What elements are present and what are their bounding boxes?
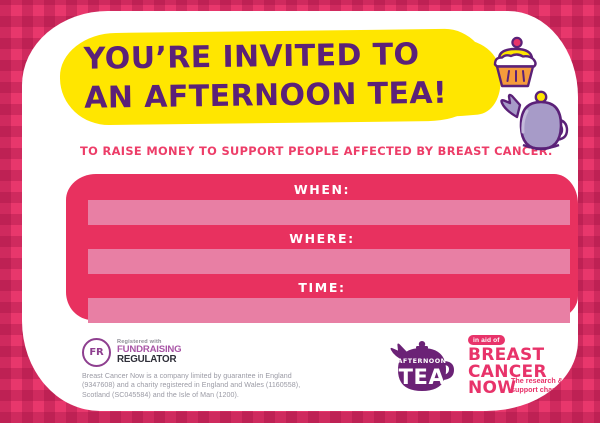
- cupcake-icon: [486, 35, 542, 91]
- legal-text: Breast Cancer Now is a company limited b…: [82, 372, 352, 400]
- invitation-poster: YOU’RE INVITED TO AN AFTERNOON TEA! TO R…: [0, 0, 600, 423]
- teapot-icon: [496, 89, 576, 155]
- headline-line-2: AN AFTERNOON TEA!: [84, 73, 485, 118]
- page-title: YOU’RE INVITED TO AN AFTERNOON TEA!: [83, 34, 484, 118]
- charity-strapline-line-2: support charity: [511, 385, 563, 394]
- fr-wordmark: Registered with FUNDRAISING REGULATOR: [117, 339, 181, 366]
- field-input-time[interactable]: [88, 298, 570, 323]
- legal-line-3: Scotland (SC045584) and the Isle of Man …: [82, 391, 352, 400]
- subtitle: TO RAISE MONEY TO SUPPORT PEOPLE AFFECTE…: [80, 144, 553, 158]
- tea-logo-main-word: TEA: [399, 365, 446, 389]
- headline-line-1: YOU’RE INVITED TO: [84, 37, 420, 77]
- fr-monogram-icon: FR: [82, 338, 111, 367]
- afternoon-tea-logo: AFTERNOON TEA: [388, 339, 462, 397]
- fr-regulator: REGULATOR: [117, 355, 181, 366]
- charity-strapline: The research & support charity: [511, 376, 563, 394]
- in-aid-of-badge: in aid of: [468, 335, 505, 345]
- event-details-panel: WHEN: WHERE: TIME:: [66, 174, 578, 320]
- field-input-when[interactable]: [88, 200, 570, 225]
- invitation-card: YOU’RE INVITED TO AN AFTERNOON TEA! TO R…: [22, 11, 578, 411]
- field-label-time: TIME:: [66, 280, 578, 295]
- field-input-where[interactable]: [88, 249, 570, 274]
- tea-logo-top-word: AFTERNOON: [397, 357, 446, 365]
- field-label-when: WHEN:: [66, 182, 578, 197]
- charity-strapline-line-1: The research &: [511, 376, 563, 385]
- field-label-where: WHERE:: [66, 231, 578, 246]
- fundraising-regulator-logo: FR Registered with FUNDRAISING REGULATOR: [82, 338, 181, 367]
- legal-line-1: Breast Cancer Now is a company limited b…: [82, 372, 352, 381]
- legal-line-2: (9347608) and a charity registered in En…: [82, 381, 352, 390]
